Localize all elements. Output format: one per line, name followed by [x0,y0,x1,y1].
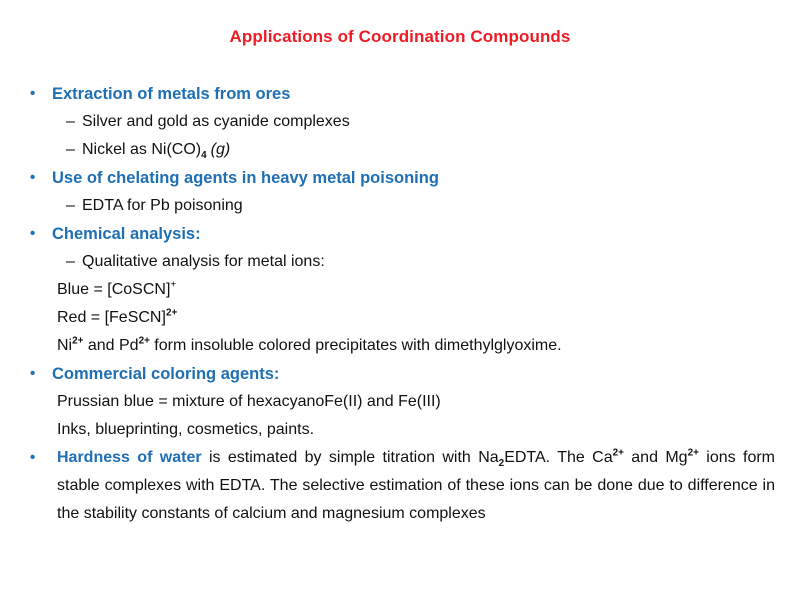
subscript-four: 4 [201,150,207,161]
formula-text: Red = [FeSCN] [57,309,166,326]
bullet-dot-icon: • [30,444,35,472]
bullet-heading-label: Commercial coloring agents: [52,365,279,383]
paragraph-text: form insoluble colored precipitates with… [150,337,562,354]
bullet-dot-icon: • [30,80,35,108]
bullet-commercial-coloring-agents: • Commercial coloring agents: [0,360,800,388]
dash-icon: – [66,192,75,220]
bullet-heading-label: Extraction of metals from ores [52,85,290,103]
paragraph-text: is estimated by simple titration with Na [202,449,499,466]
paragraph-text: EDTA. The Ca [504,449,612,466]
sub-item-label-pre: Nickel as Ni(CO) [82,141,201,158]
paragraph-text: and Mg [624,449,688,466]
superscript-charge: 2+ [166,308,177,319]
sub-item-qualitative-analysis: – Qualitative analysis for metal ions: [0,248,800,276]
bullet-extraction-of-metals: • Extraction of metals from ores [0,80,800,108]
bullet-heading-label: Use of chelating agents in heavy metal p… [52,169,439,187]
sub-item-label: Silver and gold as cyanide complexes [82,113,350,130]
bullet-dot-icon: • [30,164,35,192]
formula-text: Blue = [CoSCN] [57,281,170,298]
slide-canvas: Applications of Coordination Compounds •… [0,0,800,600]
text-line-red-fescn: Red = [FeSCN]2+ [0,304,800,332]
superscript-charge: + [170,280,176,291]
sub-item-label: Qualitative analysis for metal ions: [82,253,325,270]
ion-symbol-ni: Ni [57,337,72,354]
text-line-inks-paints: Inks, blueprinting, cosmetics, paints. [0,416,800,444]
text-line-blue-coscn: Blue = [CoSCN]+ [0,276,800,304]
dash-icon: – [66,108,75,136]
superscript-charge: 2+ [139,336,150,347]
sub-item-nickel-carbonyl: – Nickel as Ni(CO)4(g) [0,136,800,164]
slide-body: • Extraction of metals from ores – Silve… [0,80,800,528]
superscript-charge: 2+ [688,448,699,459]
sub-item-edta-pb: – EDTA for Pb poisoning [0,192,800,220]
superscript-charge: 2+ [613,448,624,459]
bullet-chelating-agents: • Use of chelating agents in heavy metal… [0,164,800,192]
bullet-hardness-of-water: •Hardness of water is estimated by simpl… [57,444,775,528]
text-line-prussian-blue: Prussian blue = mixture of hexacyanoFe(I… [0,388,800,416]
dash-icon: – [66,248,75,276]
bullet-heading-label: Chemical analysis: [52,225,201,243]
bullet-chemical-analysis: • Chemical analysis: [0,220,800,248]
bullet-lead-label: Hardness of water [57,449,202,466]
sub-item-silver-gold: – Silver and gold as cyanide complexes [0,108,800,136]
bullet-dot-icon: • [30,360,35,388]
dash-icon: – [66,136,75,164]
phase-label-gas: (g) [211,141,231,158]
page-title: Applications of Coordination Compounds [0,26,800,48]
paragraph-dimethylglyoxime: Ni2+ and Pd2+ form insoluble colored pre… [50,332,775,360]
bullet-dot-icon: • [30,220,35,248]
sub-item-label: EDTA for Pb poisoning [82,197,243,214]
paragraph-text: and Pd [83,337,138,354]
superscript-charge: 2+ [72,336,83,347]
